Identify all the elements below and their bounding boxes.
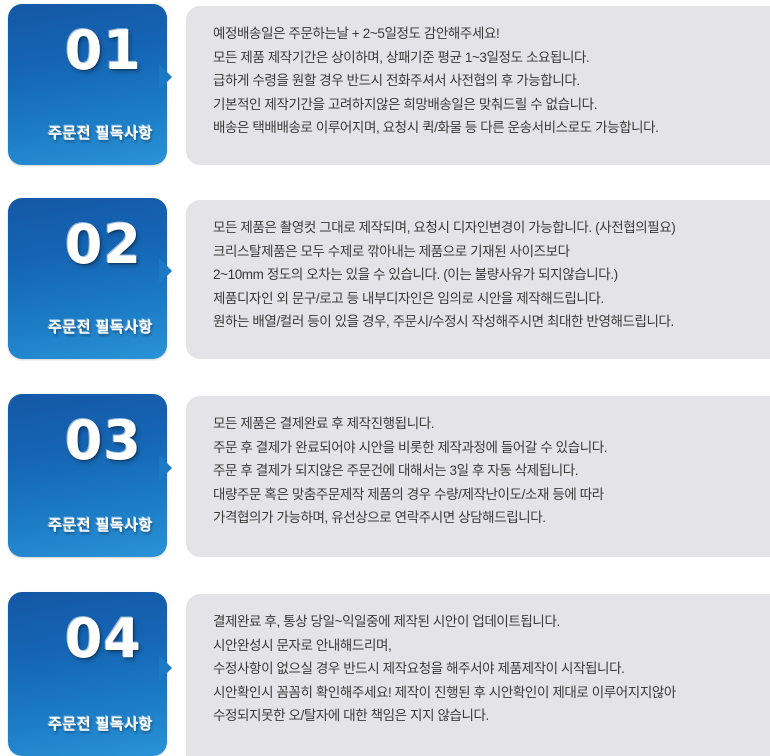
- notice-badge-label: 주문전 필독사항: [48, 514, 153, 535]
- notice-line: 주문 후 결제가 되지않은 주문건에 대해서는 3일 후 자동 삭제됩니다.: [213, 459, 760, 483]
- notice-line: 가격협의가 가능하며, 유선상으로 연락주시면 상담해드립니다.: [213, 506, 760, 530]
- badge-pointer-icon: [159, 258, 172, 284]
- notice-badge-04: 04 주문전 필독사항: [8, 592, 167, 756]
- notice-line: 기본적인 제작기간을 고려하지않은 희망배송일은 맞춰드릴 수 없습니다.: [213, 93, 760, 117]
- notice-number: 01: [65, 24, 142, 78]
- notice-line: 결제완료 후, 통상 당일~익일중에 제작된 시안이 업데이트됩니다.: [213, 610, 760, 634]
- notice-line: 모든 제품은 결제완료 후 제작진행됩니다.: [213, 412, 760, 436]
- notice-line: 크리스탈제품은 모두 수제로 깎아내는 제품으로 기재된 사이즈보다: [213, 240, 760, 264]
- notice-line: 2~10mm 정도의 오차는 있을 수 있습니다. (이는 불량사유가 되지않습…: [213, 263, 760, 287]
- notice-badge-03: 03 주문전 필독사항: [8, 394, 167, 557]
- notice-line: 예정배송일은 주문하는날 + 2~5일정도 감안해주세요!: [213, 22, 760, 46]
- notice-number: 04: [65, 612, 142, 666]
- notice-text-panel-01: 예정배송일은 주문하는날 + 2~5일정도 감안해주세요! 모든 제품 제작기간…: [186, 6, 770, 165]
- notice-badge-label: 주문전 필독사항: [48, 316, 153, 337]
- badge-pointer-icon: [159, 655, 172, 681]
- notice-line: 대량주문 혹은 맞춤주문제작 제품의 경우 수량/제작난이도/소재 등에 따라: [213, 483, 760, 507]
- notice-line: 시안확인시 꼼꼼히 확인해주세요! 제작이 진행된 후 시안확인이 제대로 이루…: [213, 681, 760, 705]
- notice-board: 예정배송일은 주문하는날 + 2~5일정도 감안해주세요! 모든 제품 제작기간…: [0, 0, 770, 756]
- notice-line: 주문 후 결제가 완료되어야 시안을 비롯한 제작과정에 들어갈 수 있습니다.: [213, 436, 760, 460]
- notice-badge-label: 주문전 필독사항: [48, 122, 153, 143]
- notice-line: 급하게 수령을 원할 경우 반드시 전화주셔서 사전협의 후 가능합니다.: [213, 69, 760, 93]
- notice-line: 모든 제품은 촬영컷 그대로 제작되며, 요청시 디자인변경이 가능합니다. (…: [213, 216, 760, 240]
- notice-line: 모든 제품 제작기간은 상이하며, 상패기준 평균 1~3일정도 소요됩니다.: [213, 46, 760, 70]
- notice-line: 시안완성시 문자로 안내해드리며,: [213, 634, 760, 658]
- notice-line: 제품디자인 외 문구/로고 등 내부디자인은 임의로 시안을 제작해드립니다.: [213, 287, 760, 311]
- notice-badge-label: 주문전 필독사항: [48, 713, 153, 734]
- notice-text-panel-04: 결제완료 후, 통상 당일~익일중에 제작된 시안이 업데이트됩니다. 시안완성…: [186, 594, 770, 756]
- notice-text-panel-02: 모든 제품은 촬영컷 그대로 제작되며, 요청시 디자인변경이 가능합니다. (…: [186, 200, 770, 359]
- badge-pointer-icon: [159, 64, 172, 90]
- notice-number: 02: [65, 218, 142, 272]
- notice-line: 배송은 택배배송로 이루어지며, 요청시 퀵/화물 등 다른 운송서비스로도 가…: [213, 116, 760, 140]
- badge-pointer-icon: [159, 455, 172, 481]
- notice-badge-01: 01 주문전 필독사항: [8, 4, 167, 165]
- notice-line: 수정되지못한 오/탈자에 대한 책임은 지지 않습니다.: [213, 704, 760, 728]
- notice-line: 원하는 배열/컬러 등이 있을 경우, 주문시/수정시 작성해주시면 최대한 반…: [213, 310, 760, 334]
- notice-text-panel-03: 모든 제품은 결제완료 후 제작진행됩니다. 주문 후 결제가 완료되어야 시안…: [186, 396, 770, 557]
- notice-line: 수정사항이 없으실 경우 반드시 제작요청을 해주서야 제품제작이 시작됩니다.: [213, 657, 760, 681]
- notice-badge-02: 02 주문전 필독사항: [8, 198, 167, 359]
- notice-number: 03: [65, 414, 142, 468]
